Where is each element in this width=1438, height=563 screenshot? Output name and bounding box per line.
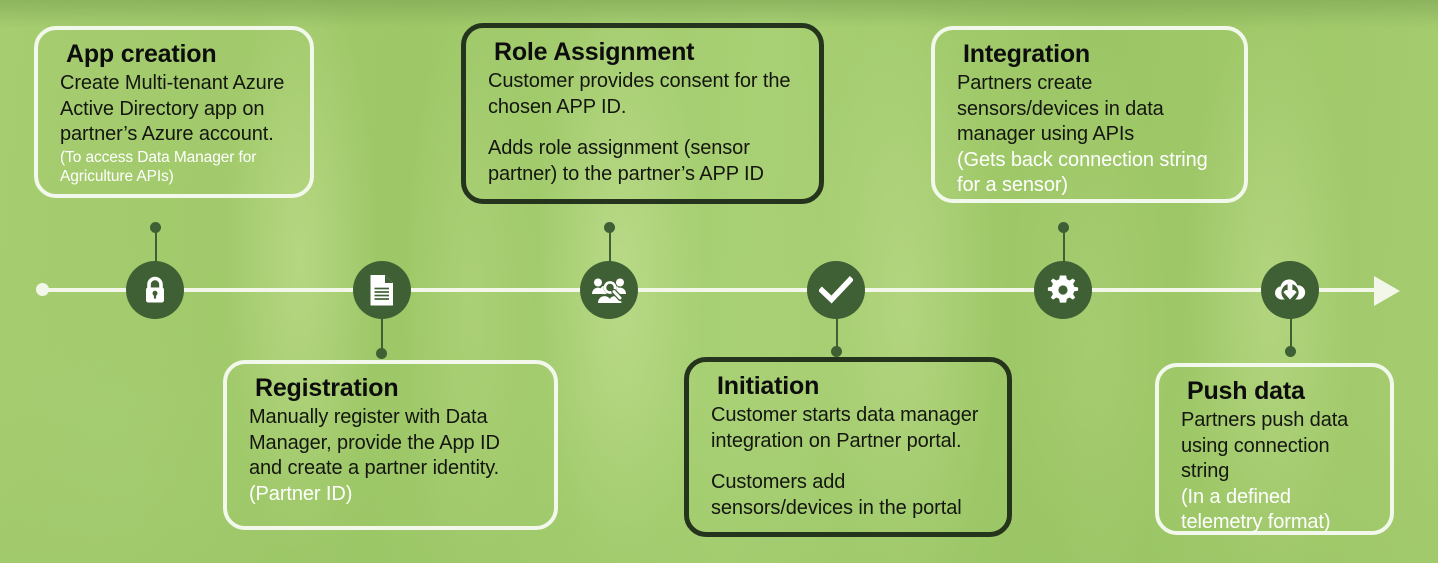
timeline-arrow-icon (1374, 276, 1400, 306)
card-body-second: Adds role assignment (sensor partner) to… (488, 136, 801, 187)
card-body: Partners push data using connection stri… (1181, 408, 1372, 485)
connector-dot-push-data (1285, 346, 1296, 357)
card-title: Initiation (717, 372, 989, 400)
paragraph-spacer (711, 454, 989, 470)
connector-dot-registration (376, 348, 387, 359)
card-note: (In a defined telemetry format) (1181, 485, 1372, 536)
card-body: Create Multi-tenant Azure Active Directo… (60, 71, 292, 148)
card-app-creation[interactable]: App creation Create Multi-tenant Azure A… (34, 26, 314, 198)
card-title: Integration (963, 40, 1226, 68)
cloud-download-icon (1272, 276, 1308, 304)
connector-dot-app-creation (150, 222, 161, 233)
timeline-node-check[interactable] (807, 261, 865, 319)
card-note: (Gets back connection string for a senso… (957, 148, 1226, 199)
card-note: (To access Data Manager for Agriculture … (60, 148, 292, 186)
card-body-first: Customer provides consent for the chosen… (488, 69, 801, 120)
connector-stem-integration (1063, 228, 1065, 264)
card-title: Push data (1187, 377, 1372, 405)
card-role-assignment[interactable]: Role Assignment Customer provides consen… (461, 23, 824, 204)
connector-dot-role-assignment (604, 222, 615, 233)
paragraph-spacer (488, 120, 801, 136)
timeline-node-document[interactable] (353, 261, 411, 319)
timeline-node-user-search[interactable] (580, 261, 638, 319)
card-title: Role Assignment (494, 38, 801, 66)
card-initiation[interactable]: Initiation Customer starts data manager … (684, 357, 1012, 537)
lock-icon (140, 274, 170, 306)
connector-stem-app-creation (155, 228, 157, 264)
card-registration[interactable]: Registration Manually register with Data… (223, 360, 558, 530)
card-title: Registration (255, 374, 536, 402)
card-body: Partners create sensors/devices in data … (957, 71, 1226, 148)
diagram-canvas: App creation Create Multi-tenant Azure A… (0, 0, 1438, 563)
card-integration[interactable]: Integration Partners create sensors/devi… (931, 26, 1248, 203)
card-note: (Partner ID) (249, 482, 536, 508)
timeline-node-cloud-download[interactable] (1261, 261, 1319, 319)
connector-dot-integration (1058, 222, 1069, 233)
user-search-icon (591, 275, 627, 305)
timeline-axis (46, 288, 1392, 292)
card-title: App creation (66, 40, 292, 68)
connector-dot-initiation (831, 346, 842, 357)
timeline-node-lock[interactable] (126, 261, 184, 319)
document-icon (368, 273, 396, 307)
card-body-first: Customer starts data manager integration… (711, 403, 989, 454)
card-body: Manually register with Data Manager, pro… (249, 405, 536, 482)
timeline-node-gear[interactable] (1034, 261, 1092, 319)
card-push-data[interactable]: Push data Partners push data using conne… (1155, 363, 1394, 535)
card-body-second: Customers add sensors/devices in the por… (711, 470, 989, 521)
check-icon (819, 276, 853, 304)
gear-icon (1047, 274, 1079, 306)
connector-stem-role-assignment (609, 228, 611, 264)
